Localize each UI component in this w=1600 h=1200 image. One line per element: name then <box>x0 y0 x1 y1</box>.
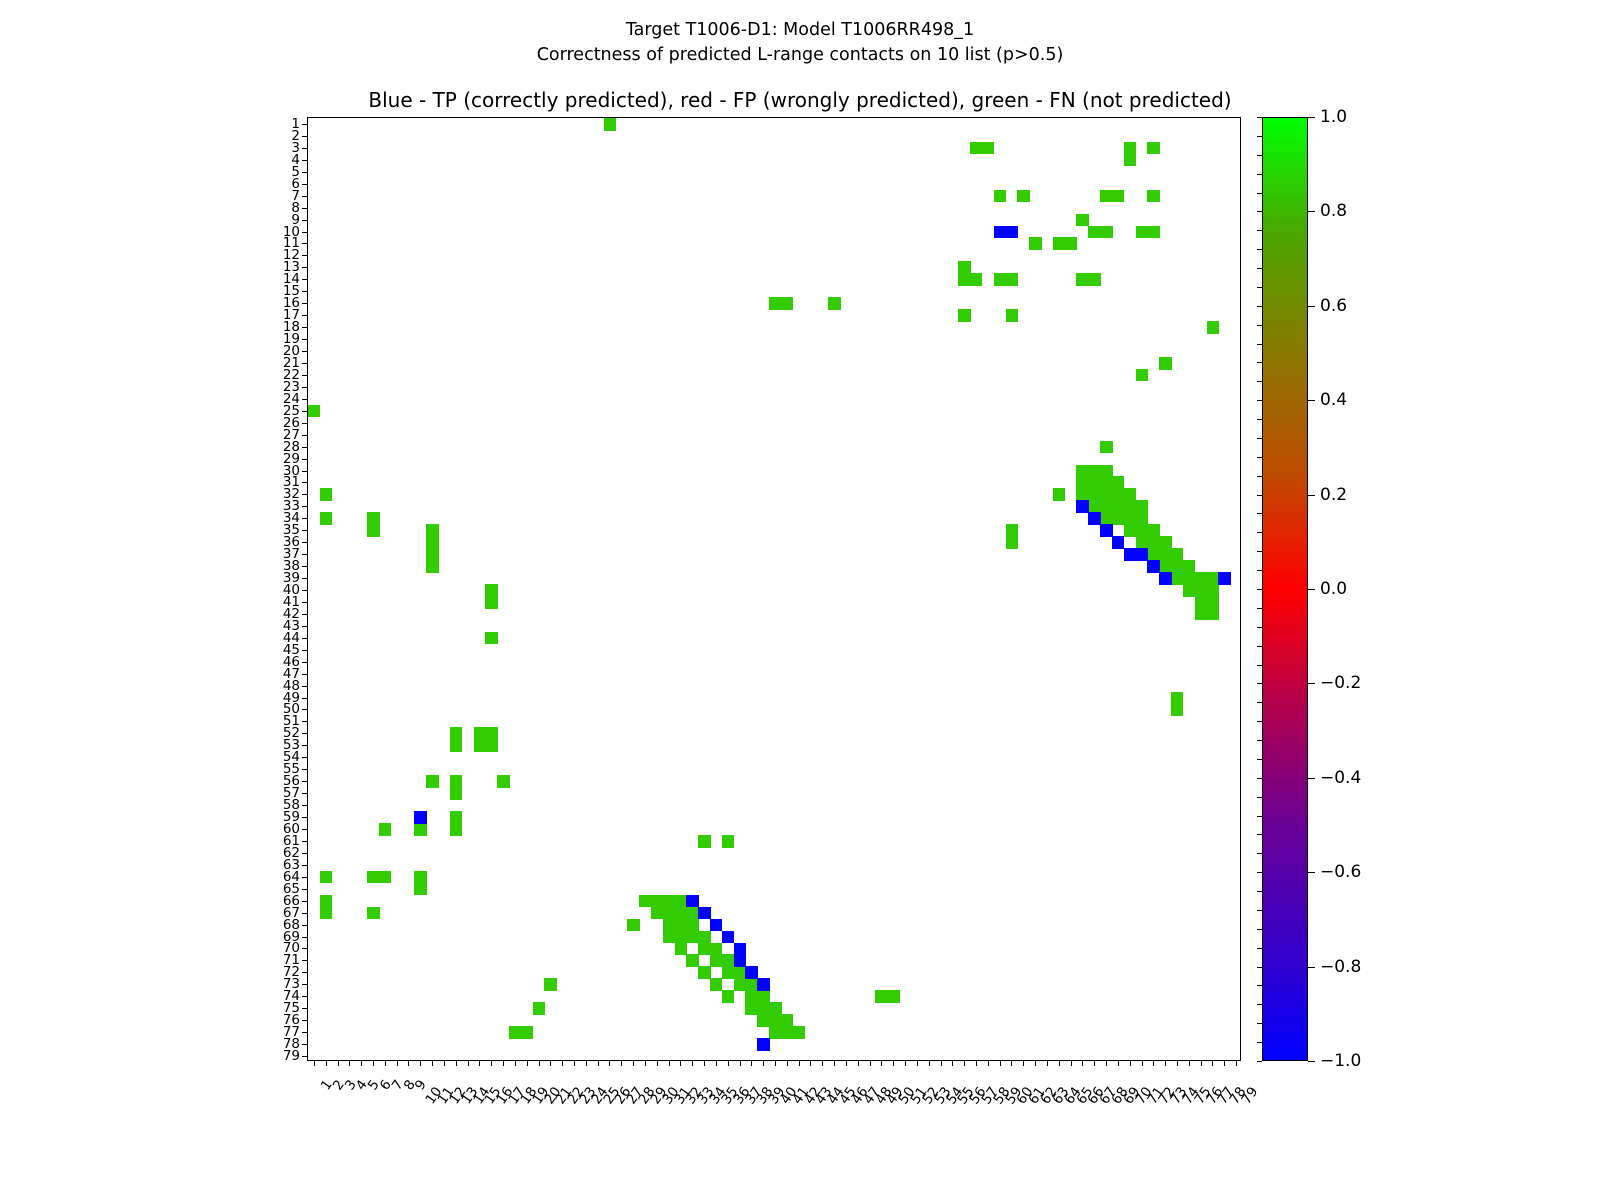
cell-tp-blue <box>1076 500 1088 513</box>
cell-tp-blue <box>757 978 769 991</box>
cell-tp-blue <box>745 966 757 979</box>
cell-fn-green <box>686 919 698 932</box>
x-tick <box>870 1060 871 1066</box>
y-tick <box>302 339 308 340</box>
cell-fn-green <box>1147 142 1159 155</box>
x-tick <box>1177 1060 1178 1066</box>
cell-tp-blue <box>1006 226 1018 239</box>
cell-fn-green <box>1171 548 1183 561</box>
cell-fn-green <box>1195 584 1207 597</box>
cell-fn-green <box>757 1002 769 1015</box>
cell-fn-green <box>414 823 426 836</box>
x-tick <box>1082 1060 1083 1066</box>
cell-fn-green <box>1112 476 1124 489</box>
colorbar-minor-tick <box>1257 948 1262 949</box>
y-tick <box>302 315 308 316</box>
cell-fn-green <box>745 1002 757 1015</box>
colorbar-minor-tick <box>1257 400 1262 401</box>
cell-fn-green <box>426 536 438 549</box>
cell-fn-green <box>663 931 675 944</box>
colorbar-tick <box>1308 211 1315 212</box>
colorbar-minor-tick <box>1257 759 1262 760</box>
y-tick <box>302 650 308 651</box>
x-tick <box>822 1060 823 1066</box>
x-tick <box>527 1060 528 1066</box>
x-tick <box>834 1060 835 1066</box>
cell-fn-green <box>1207 596 1219 609</box>
colorbar-minor-tick <box>1257 929 1262 930</box>
cell-fn-green <box>734 966 746 979</box>
cell-fn-green <box>698 966 710 979</box>
x-tick <box>893 1060 894 1066</box>
x-tick <box>952 1060 953 1066</box>
colorbar-minor-tick <box>1257 646 1262 647</box>
cell-fn-green <box>1076 476 1088 489</box>
cell-fn-green <box>1112 190 1124 203</box>
cell-fn-green <box>1195 596 1207 609</box>
colorbar-minor-tick <box>1257 778 1262 779</box>
x-tick <box>1201 1060 1202 1066</box>
cell-fn-green <box>1088 465 1100 478</box>
cell-fn-green <box>1183 584 1195 597</box>
colorbar-minor-tick <box>1257 570 1262 571</box>
cell-fn-green <box>521 1026 533 1039</box>
colorbar-minor-tick <box>1257 721 1262 722</box>
cell-fn-green <box>1053 488 1065 501</box>
colorbar-minor-tick <box>1257 344 1262 345</box>
cell-fn-green <box>698 931 710 944</box>
cell-fn-green <box>1076 488 1088 501</box>
x-tick <box>633 1060 634 1066</box>
y-tick <box>302 829 308 830</box>
x-tick <box>1118 1060 1119 1066</box>
colorbar-minor-tick <box>1257 985 1262 986</box>
x-tick <box>669 1060 670 1066</box>
cell-fn-green <box>1006 309 1018 322</box>
cell-fn-green <box>675 907 687 920</box>
x-tick <box>1130 1060 1131 1066</box>
colorbar-minor-tick <box>1257 551 1262 552</box>
y-tick <box>302 506 308 507</box>
colorbar-tick-label: 0.6 <box>1320 296 1347 316</box>
y-tick <box>302 399 308 400</box>
x-tick <box>964 1060 965 1066</box>
figure-root: Target T1006-D1: Model T1006RR498_1 Corr… <box>0 0 1600 1200</box>
cell-fn-green <box>426 560 438 573</box>
cell-fn-green <box>1136 536 1148 549</box>
cell-fn-green <box>1207 321 1219 334</box>
y-tick <box>302 1032 308 1033</box>
colorbar-tick-label: 1.0 <box>1320 107 1347 127</box>
cell-fn-green <box>1065 237 1077 250</box>
colorbar-minor-tick <box>1257 513 1262 514</box>
cell-fn-green <box>781 1014 793 1027</box>
figure-title: Target T1006-D1: Model T1006RR498_1 Corr… <box>0 18 1600 69</box>
y-tick <box>302 877 308 878</box>
cell-tp-blue <box>414 811 426 824</box>
cell-fn-green <box>710 978 722 991</box>
cell-fn-green <box>1159 536 1171 549</box>
x-tick <box>562 1060 563 1066</box>
cell-fn-green <box>698 835 710 848</box>
cell-tp-blue <box>1218 572 1230 585</box>
cell-tp-blue <box>698 907 710 920</box>
y-tick <box>302 447 308 448</box>
colorbar-minor-tick <box>1257 174 1262 175</box>
cell-fn-green <box>663 895 675 908</box>
y-tick <box>302 459 308 460</box>
colorbar-minor-tick <box>1257 608 1262 609</box>
y-tick <box>302 733 308 734</box>
cell-fn-green <box>320 488 332 501</box>
cell-fn-green <box>1076 214 1088 227</box>
x-tick <box>326 1060 327 1066</box>
cell-fn-green <box>887 990 899 1003</box>
y-tick <box>302 889 308 890</box>
cell-fn-green <box>1017 190 1029 203</box>
colorbar-tick <box>1308 589 1315 590</box>
y-tick <box>302 243 308 244</box>
x-tick <box>716 1060 717 1066</box>
cell-fn-green <box>497 775 509 788</box>
cell-fn-green <box>450 727 462 740</box>
y-tick <box>302 793 308 794</box>
contact-map-cells <box>308 118 1240 1060</box>
cell-fn-green <box>994 273 1006 286</box>
y-tick <box>302 972 308 973</box>
x-tick <box>1047 1060 1048 1066</box>
cell-fn-green <box>1100 226 1112 239</box>
cell-fn-green <box>651 895 663 908</box>
cell-fn-green <box>1147 226 1159 239</box>
colorbar-minor-tick <box>1257 495 1262 496</box>
title-line-1: Target T1006-D1: Model T1006RR498_1 <box>0 18 1600 43</box>
y-tick <box>302 435 308 436</box>
cell-fn-green <box>1088 476 1100 489</box>
cell-fn-green <box>1076 465 1088 478</box>
colorbar-tick-label: −0.4 <box>1320 768 1361 788</box>
cell-fn-green <box>1124 500 1136 513</box>
y-tick <box>302 614 308 615</box>
x-tick <box>373 1060 374 1066</box>
colorbar-minor-tick <box>1257 665 1262 666</box>
cell-fn-green <box>1159 548 1171 561</box>
cell-tp-blue <box>710 919 722 932</box>
y-tick <box>302 721 308 722</box>
y-tick <box>302 698 308 699</box>
x-tick <box>763 1060 764 1066</box>
cell-fn-green <box>663 919 675 932</box>
cell-fn-green <box>1124 524 1136 537</box>
cell-fn-green <box>686 907 698 920</box>
cell-fn-green <box>379 823 391 836</box>
y-tick <box>302 471 308 472</box>
colorbar-tick <box>1308 683 1315 684</box>
colorbar-minor-tick <box>1257 589 1262 590</box>
x-tick <box>468 1060 469 1066</box>
colorbar-minor-tick <box>1257 797 1262 798</box>
colorbar-minor-tick <box>1257 702 1262 703</box>
cell-fn-green <box>651 907 663 920</box>
cell-fn-green <box>675 931 687 944</box>
x-tick <box>574 1060 575 1066</box>
y-tick <box>302 805 308 806</box>
cell-fn-green <box>1136 512 1148 525</box>
cell-fn-green <box>450 811 462 824</box>
colorbar-minor-tick <box>1257 306 1262 307</box>
cell-fn-green <box>474 739 486 752</box>
x-tick <box>740 1060 741 1066</box>
x-tick <box>704 1060 705 1066</box>
cell-fn-green <box>1006 273 1018 286</box>
cell-fn-green <box>1124 142 1136 155</box>
title-line-2: Correctness of predicted L-range contact… <box>0 43 1600 68</box>
cell-fn-green <box>1100 500 1112 513</box>
x-tick <box>881 1060 882 1066</box>
x-tick <box>1059 1060 1060 1066</box>
y-tick <box>302 626 308 627</box>
y-tick <box>302 423 308 424</box>
x-tick <box>1035 1060 1036 1066</box>
cell-fn-green <box>1147 190 1159 203</box>
colorbar-minor-tick <box>1257 362 1262 363</box>
y-tick-label: 79 <box>283 1048 300 1064</box>
y-tick <box>302 901 308 902</box>
x-tick <box>728 1060 729 1066</box>
cell-fn-green <box>1100 476 1112 489</box>
y-tick <box>302 1008 308 1009</box>
y-tick <box>302 566 308 567</box>
cell-fn-green <box>698 943 710 956</box>
x-tick <box>1212 1060 1213 1066</box>
y-tick <box>302 518 308 519</box>
x-tick <box>598 1060 599 1066</box>
cell-fn-green <box>450 823 462 836</box>
cell-fn-green <box>828 297 840 310</box>
cell-fn-green <box>379 871 391 884</box>
cell-fn-green <box>1171 704 1183 717</box>
colorbar-minor-tick <box>1257 381 1262 382</box>
cell-fn-green <box>367 512 379 525</box>
cell-fn-green <box>982 142 994 155</box>
cell-fn-green <box>1171 560 1183 573</box>
cell-fn-green <box>734 978 746 991</box>
colorbar-minor-tick <box>1257 872 1262 873</box>
y-tick <box>302 638 308 639</box>
y-tick <box>302 554 308 555</box>
y-tick <box>302 925 308 926</box>
colorbar-minor-tick <box>1257 211 1262 212</box>
cell-fn-green <box>474 727 486 740</box>
y-tick <box>302 232 308 233</box>
y-tick <box>302 494 308 495</box>
colorbar-tick <box>1308 306 1315 307</box>
cell-tp-blue <box>1088 512 1100 525</box>
y-tick <box>302 948 308 949</box>
cell-fn-green <box>1136 500 1148 513</box>
cell-tp-blue <box>1112 536 1124 549</box>
y-tick <box>302 530 308 531</box>
x-tick <box>621 1060 622 1066</box>
x-tick <box>479 1060 480 1066</box>
cell-fn-green <box>1147 548 1159 561</box>
x-tick <box>751 1060 752 1066</box>
x-tick <box>787 1060 788 1066</box>
colorbar-minor-tick <box>1257 1004 1262 1005</box>
colorbar-tick <box>1308 778 1315 779</box>
cell-fn-green <box>1006 536 1018 549</box>
x-tick <box>1224 1060 1225 1066</box>
cell-fn-green <box>710 943 722 956</box>
cell-fn-green <box>1112 488 1124 501</box>
colorbar-minor-tick <box>1257 419 1262 420</box>
cell-fn-green <box>1136 226 1148 239</box>
cell-tp-blue <box>757 1038 769 1051</box>
y-tick <box>302 279 308 280</box>
x-tick <box>338 1060 339 1066</box>
colorbar-minor-tick <box>1257 268 1262 269</box>
colorbar-tick <box>1308 872 1315 873</box>
x-tick <box>1106 1060 1107 1066</box>
cell-fn-green <box>1159 357 1171 370</box>
cell-fn-green <box>1088 273 1100 286</box>
cell-fn-green <box>414 871 426 884</box>
cell-fn-green <box>320 895 332 908</box>
colorbar-minor-tick <box>1257 438 1262 439</box>
cell-fn-green <box>1124 488 1136 501</box>
cell-fn-green <box>745 978 757 991</box>
cell-fn-green <box>1124 512 1136 525</box>
y-tick <box>302 686 308 687</box>
y-tick <box>302 327 308 328</box>
colorbar-tick-label: 0.8 <box>1320 201 1347 221</box>
x-tick <box>609 1060 610 1066</box>
cell-fn-green <box>1100 488 1112 501</box>
y-tick <box>302 769 308 770</box>
cell-fn-green <box>745 990 757 1003</box>
cell-fn-green <box>722 954 734 967</box>
cell-fn-green <box>450 775 462 788</box>
cell-fn-green <box>970 142 982 155</box>
y-tick <box>302 709 308 710</box>
y-tick <box>302 411 308 412</box>
cell-fn-green <box>1100 441 1112 454</box>
x-tick <box>503 1060 504 1066</box>
x-tick <box>680 1060 681 1066</box>
x-tick <box>515 1060 516 1066</box>
x-tick <box>456 1060 457 1066</box>
cell-fn-green <box>722 966 734 979</box>
colorbar-minor-tick <box>1257 136 1262 137</box>
y-tick <box>302 148 308 149</box>
cell-fn-green <box>686 931 698 944</box>
y-tick <box>302 745 308 746</box>
y-tick <box>302 387 308 388</box>
cell-fn-green <box>686 954 698 967</box>
x-tick <box>1189 1060 1190 1066</box>
cell-fn-green <box>1088 500 1100 513</box>
cell-fn-green <box>970 273 982 286</box>
cell-fn-green <box>958 273 970 286</box>
cell-fn-green <box>757 990 769 1003</box>
x-tick <box>432 1060 433 1066</box>
colorbar-minor-tick <box>1257 834 1262 835</box>
x-tick <box>385 1060 386 1066</box>
cell-fn-green <box>722 835 734 848</box>
cell-fn-green <box>320 871 332 884</box>
cell-tp-blue <box>1124 548 1136 561</box>
x-tick <box>1011 1060 1012 1066</box>
cell-fn-green <box>793 1026 805 1039</box>
cell-fn-green <box>1029 237 1041 250</box>
colorbar-tick <box>1308 495 1315 496</box>
cell-fn-green <box>1076 273 1088 286</box>
colorbar-minor-tick <box>1257 891 1262 892</box>
x-tick <box>349 1060 350 1066</box>
colorbar-tick <box>1308 400 1315 401</box>
colorbar-minor-tick <box>1257 155 1262 156</box>
cell-fn-green <box>1088 488 1100 501</box>
x-tick <box>657 1060 658 1066</box>
cell-fn-green <box>1207 572 1219 585</box>
cell-fn-green <box>781 1026 793 1039</box>
y-tick <box>302 136 308 137</box>
legend-description: Blue - TP (correctly predicted), red - F… <box>0 88 1600 112</box>
cell-tp-blue <box>686 895 698 908</box>
y-tick <box>302 757 308 758</box>
cell-fn-green <box>722 990 734 1003</box>
x-tick <box>1153 1060 1154 1066</box>
cell-fn-green <box>320 907 332 920</box>
cell-fn-green <box>485 584 497 597</box>
x-tick <box>799 1060 800 1066</box>
cell-fn-green <box>367 907 379 920</box>
cell-fn-green <box>308 405 320 418</box>
x-tick <box>976 1060 977 1066</box>
x-tick <box>491 1060 492 1066</box>
cell-fn-green <box>485 739 497 752</box>
colorbar-minor-tick <box>1257 683 1262 684</box>
cell-tp-blue <box>722 931 734 944</box>
x-tick <box>1165 1060 1166 1066</box>
cell-tp-blue <box>994 226 1006 239</box>
cell-fn-green <box>1147 524 1159 537</box>
cell-fn-green <box>1088 226 1100 239</box>
cell-fn-green <box>1183 572 1195 585</box>
cell-fn-green <box>1207 584 1219 597</box>
cell-fn-green <box>675 943 687 956</box>
colorbar-tick <box>1308 967 1315 968</box>
y-tick <box>302 375 308 376</box>
cell-fn-green <box>1159 560 1171 573</box>
colorbar-tick-label: 0.2 <box>1320 485 1347 505</box>
x-tick <box>1071 1060 1072 1066</box>
cell-fn-green <box>1171 572 1183 585</box>
y-tick <box>302 351 308 352</box>
x-tick <box>420 1060 421 1066</box>
cell-fn-green <box>675 919 687 932</box>
colorbar-minor-tick <box>1257 1061 1262 1062</box>
y-tick <box>302 184 308 185</box>
x-tick <box>917 1060 918 1066</box>
colorbar-minor-tick <box>1257 853 1262 854</box>
cell-fn-green <box>994 190 1006 203</box>
x-tick <box>314 1060 315 1066</box>
cell-fn-green <box>604 118 616 131</box>
y-tick <box>302 542 308 543</box>
y-tick <box>302 1020 308 1021</box>
cell-fn-green <box>639 895 651 908</box>
